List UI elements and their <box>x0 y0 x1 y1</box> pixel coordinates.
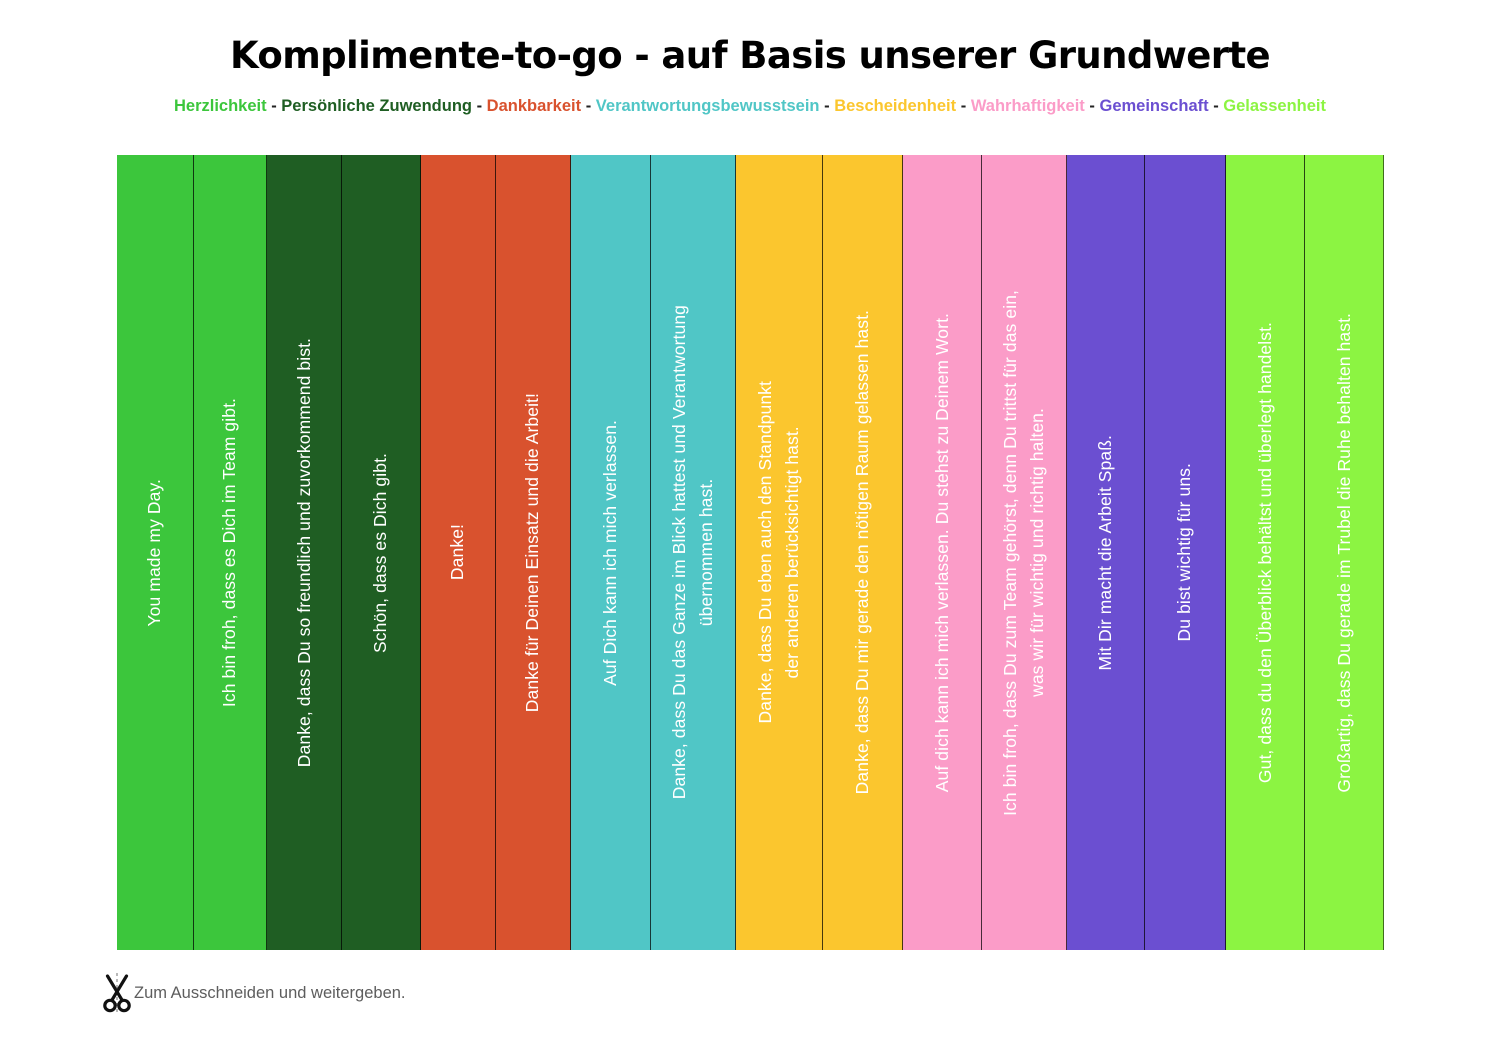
compliment-strip[interactable]: Danke! <box>421 155 497 950</box>
compliment-text: You made my Day. <box>141 479 168 627</box>
compliment-strip[interactable]: Auf Dich kann ich mich verlassen. <box>571 155 652 950</box>
compliment-text: Danke für Deinen Einsatz und die Arbeit! <box>519 393 546 712</box>
compliment-text: Großartig, dass Du gerade im Trubel die … <box>1331 313 1358 793</box>
compliment-text: Ich bin froh, dass es Dich im Team gibt. <box>216 398 243 707</box>
compliment-strip[interactable]: Du bist wichtig für uns. <box>1145 155 1226 950</box>
compliment-strip[interactable]: You made my Day. <box>117 155 194 950</box>
legend-item-4: Verantwortungsbewusstsein <box>596 97 820 115</box>
scissors-icon <box>100 972 134 1014</box>
legend-separator: - <box>1085 97 1100 115</box>
compliment-text: Auf Dich kann ich mich verlassen. <box>597 420 624 686</box>
legend-item-2: Persönliche Zuwendung <box>281 97 472 115</box>
compliment-strip[interactable]: Danke, dass Du eben auch den Standpunkt … <box>736 155 823 950</box>
compliment-text: Mit Dir macht die Arbeit Spaß. <box>1092 435 1119 670</box>
compliment-text: Danke, dass Du mir gerade den nötigen Ra… <box>849 310 876 794</box>
compliments-handout-page: Komplimente-to-go - auf Basis unserer Gr… <box>0 0 1500 1060</box>
compliment-strips-container: You made my Day.Ich bin froh, dass es Di… <box>117 155 1384 950</box>
compliment-text: Danke! <box>444 524 471 580</box>
legend-item-6: Wahrhaftigkeit <box>971 97 1085 115</box>
compliment-text: Danke, dass Du das Ganze im Blick hattes… <box>666 305 720 799</box>
compliment-text: Du bist wichtig für uns. <box>1171 463 1198 641</box>
values-legend: Herzlichkeit - Persönliche Zuwendung - D… <box>0 97 1500 116</box>
legend-separator: - <box>1209 97 1224 115</box>
compliment-strip[interactable]: Schön, dass es Dich gibt. <box>342 155 421 950</box>
legend-separator: - <box>267 97 282 115</box>
legend-separator: - <box>581 97 596 115</box>
legend-separator: - <box>472 97 487 115</box>
compliment-text: Gut, dass du den Überblick behältst und … <box>1252 322 1279 783</box>
compliment-strip[interactable]: Auf dich kann ich mich verlassen. Du ste… <box>903 155 982 950</box>
page-title: Komplimente-to-go - auf Basis unserer Gr… <box>0 34 1500 77</box>
compliment-strip[interactable]: Danke für Deinen Einsatz und die Arbeit! <box>496 155 571 950</box>
legend-item-7: Gemeinschaft <box>1099 97 1208 115</box>
legend-separator: - <box>820 97 835 115</box>
cut-out-footer: Zum Ausschneiden und weitergeben. <box>100 972 406 1014</box>
legend-item-5: Bescheidenheit <box>834 97 956 115</box>
compliment-strip[interactable]: Mit Dir macht die Arbeit Spaß. <box>1067 155 1146 950</box>
compliment-text: Auf dich kann ich mich verlassen. Du ste… <box>929 313 956 792</box>
legend-separator: - <box>956 97 971 115</box>
compliment-text: Danke, dass Du so freundlich und zuvorko… <box>291 338 318 767</box>
footer-label: Zum Ausschneiden und weitergeben. <box>134 984 406 1003</box>
compliment-text: Danke, dass Du eben auch den Standpunkt … <box>752 381 806 723</box>
legend-item-8: Gelassenheit <box>1223 97 1326 115</box>
compliment-strip[interactable]: Gut, dass du den Überblick behältst und … <box>1226 155 1306 950</box>
compliment-strip[interactable]: Ich bin froh, dass es Dich im Team gibt. <box>194 155 268 950</box>
legend-item-1: Herzlichkeit <box>174 97 267 115</box>
legend-item-3: Dankbarkeit <box>487 97 581 115</box>
compliment-strip[interactable]: Großartig, dass Du gerade im Trubel die … <box>1305 155 1384 950</box>
compliment-text: Schön, dass es Dich gibt. <box>367 453 394 653</box>
compliment-strip[interactable]: Ich bin froh, dass Du zum Team gehörst, … <box>982 155 1067 950</box>
compliment-text: Ich bin froh, dass Du zum Team gehörst, … <box>997 290 1051 816</box>
compliment-strip[interactable]: Danke, dass Du das Ganze im Blick hattes… <box>651 155 736 950</box>
compliment-strip[interactable]: Danke, dass Du mir gerade den nötigen Ra… <box>823 155 904 950</box>
compliment-strip[interactable]: Danke, dass Du so freundlich und zuvorko… <box>267 155 342 950</box>
